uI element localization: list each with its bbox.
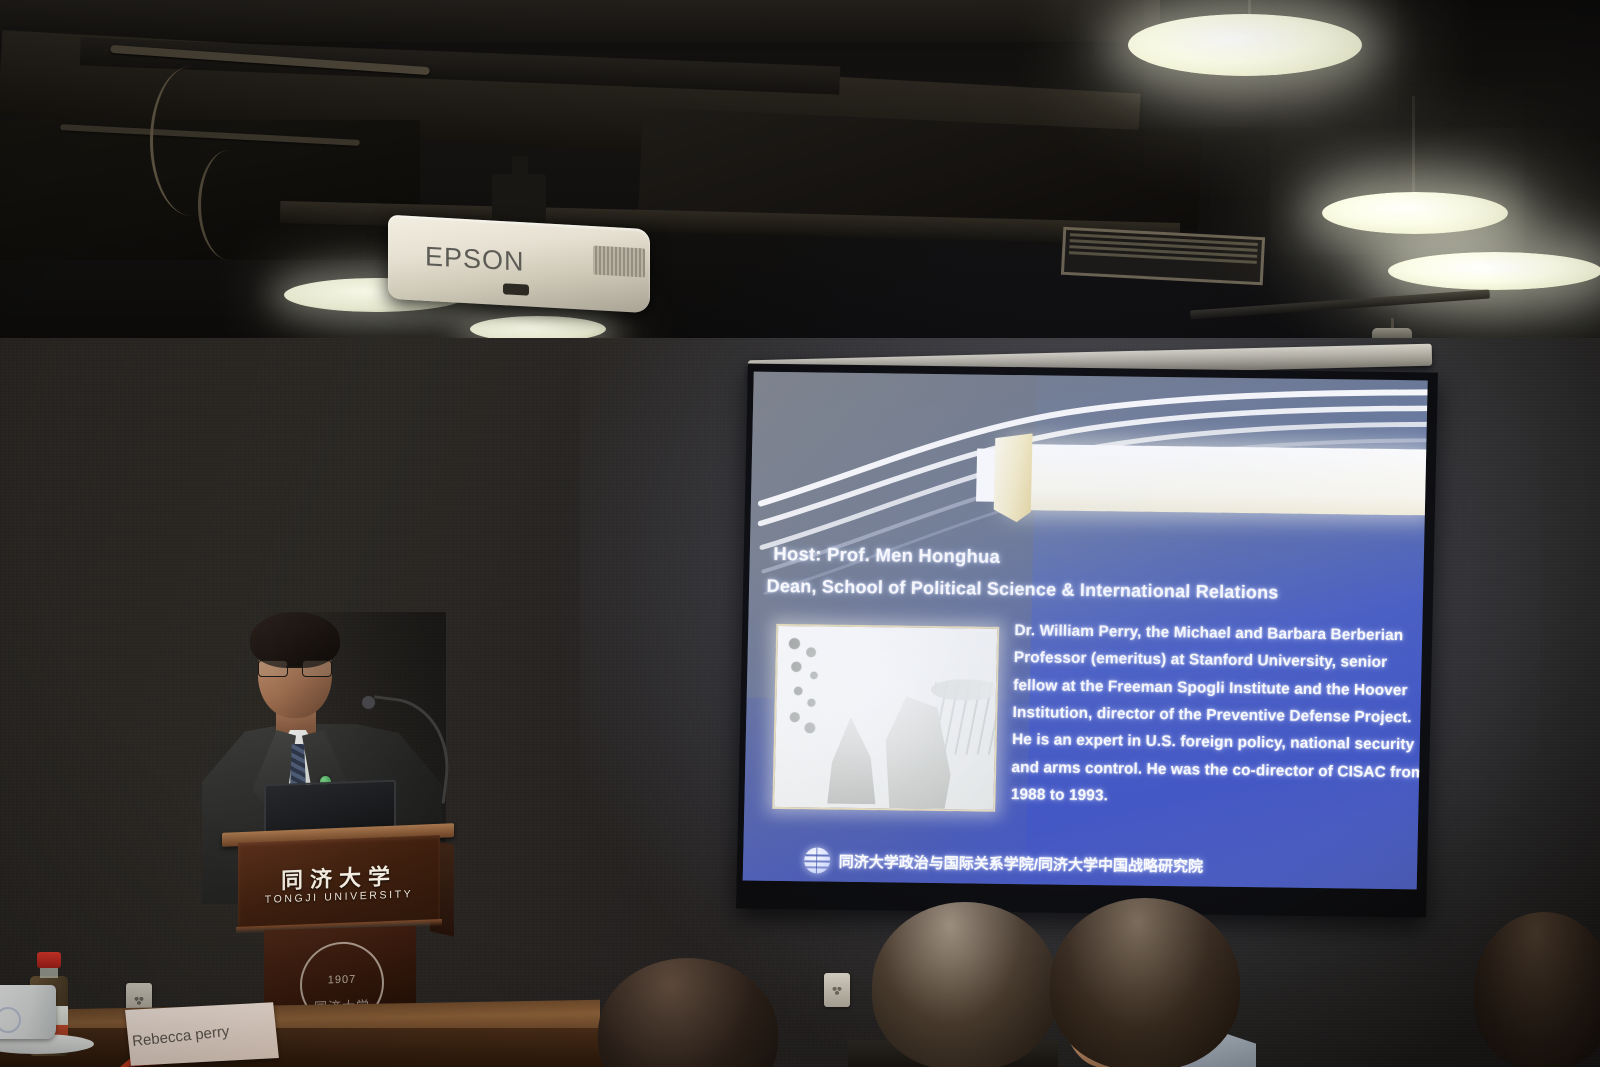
pendant-light-1: [1128, 14, 1362, 76]
lighting-track-right: [1190, 290, 1490, 320]
podium-front-panel: 同济大学 TONGJI UNIVERSITY: [238, 835, 440, 929]
microphone-capsule: [362, 696, 375, 709]
slide-footer-text: 同济大学政治与国际关系学院/同济大学中国战略研究院: [839, 851, 1204, 877]
audience-head-4: [1474, 912, 1600, 1067]
pendant-light-3: [1388, 252, 1600, 290]
projector-mount: [492, 174, 546, 226]
hvac-vent: [1061, 227, 1265, 286]
projector-lens: [503, 283, 529, 295]
slide-photo-overexposure: [775, 626, 998, 810]
nameplate: Rebecca perry: [118, 1006, 278, 1064]
ceiling-projector: EPSON: [388, 222, 650, 306]
slide-title-ribbon: [1010, 444, 1427, 516]
podium-base: 1907 同济大学: [264, 926, 416, 1012]
audience-head-3: [1050, 898, 1240, 1067]
pendant-rod-2: [1412, 96, 1415, 200]
projector-brand-label: EPSON: [425, 241, 525, 278]
power-outlet-right: [824, 973, 850, 1007]
audience-head-2: [872, 902, 1058, 1067]
seal-year: 1907: [302, 973, 382, 987]
slide-photo: [773, 624, 1000, 812]
lectern-podium: 同济大学 TONGJI UNIVERSITY 1907 同济大学: [222, 828, 454, 1010]
globe-logo-icon: [804, 848, 831, 874]
slide-host-line: Host: Prof. Men Honghua: [773, 542, 1000, 567]
projection-screen-assembly: Host: Prof. Men Honghua Dean, School of …: [742, 352, 1432, 912]
screen-frame: Host: Prof. Men Honghua Dean, School of …: [736, 364, 1438, 918]
projected-slide: Host: Prof. Men Honghua Dean, School of …: [743, 372, 1428, 890]
projector-vent-grille: [593, 246, 645, 277]
lecture-hall-photo: EPSON: [0, 0, 1600, 1067]
front-table-edge: [0, 1028, 620, 1067]
bottle-cap: [37, 952, 61, 968]
hanging-cable-2: [198, 150, 261, 260]
slide-footer: 同济大学政治与国际关系学院/同济大学中国战略研究院: [804, 848, 1204, 879]
ceiling: EPSON: [0, 0, 1600, 360]
pendant-light-2: [1322, 192, 1508, 234]
slide-ribbon-fold: [993, 433, 1033, 523]
tea-cup: [0, 985, 56, 1039]
slide-bio-text: Dr. William Perry, the Michael and Barba…: [1011, 617, 1428, 814]
eyeglasses-icon: [258, 660, 332, 675]
ceiling-beam: [0, 0, 1160, 42]
projector-mount-pole: [512, 156, 528, 180]
